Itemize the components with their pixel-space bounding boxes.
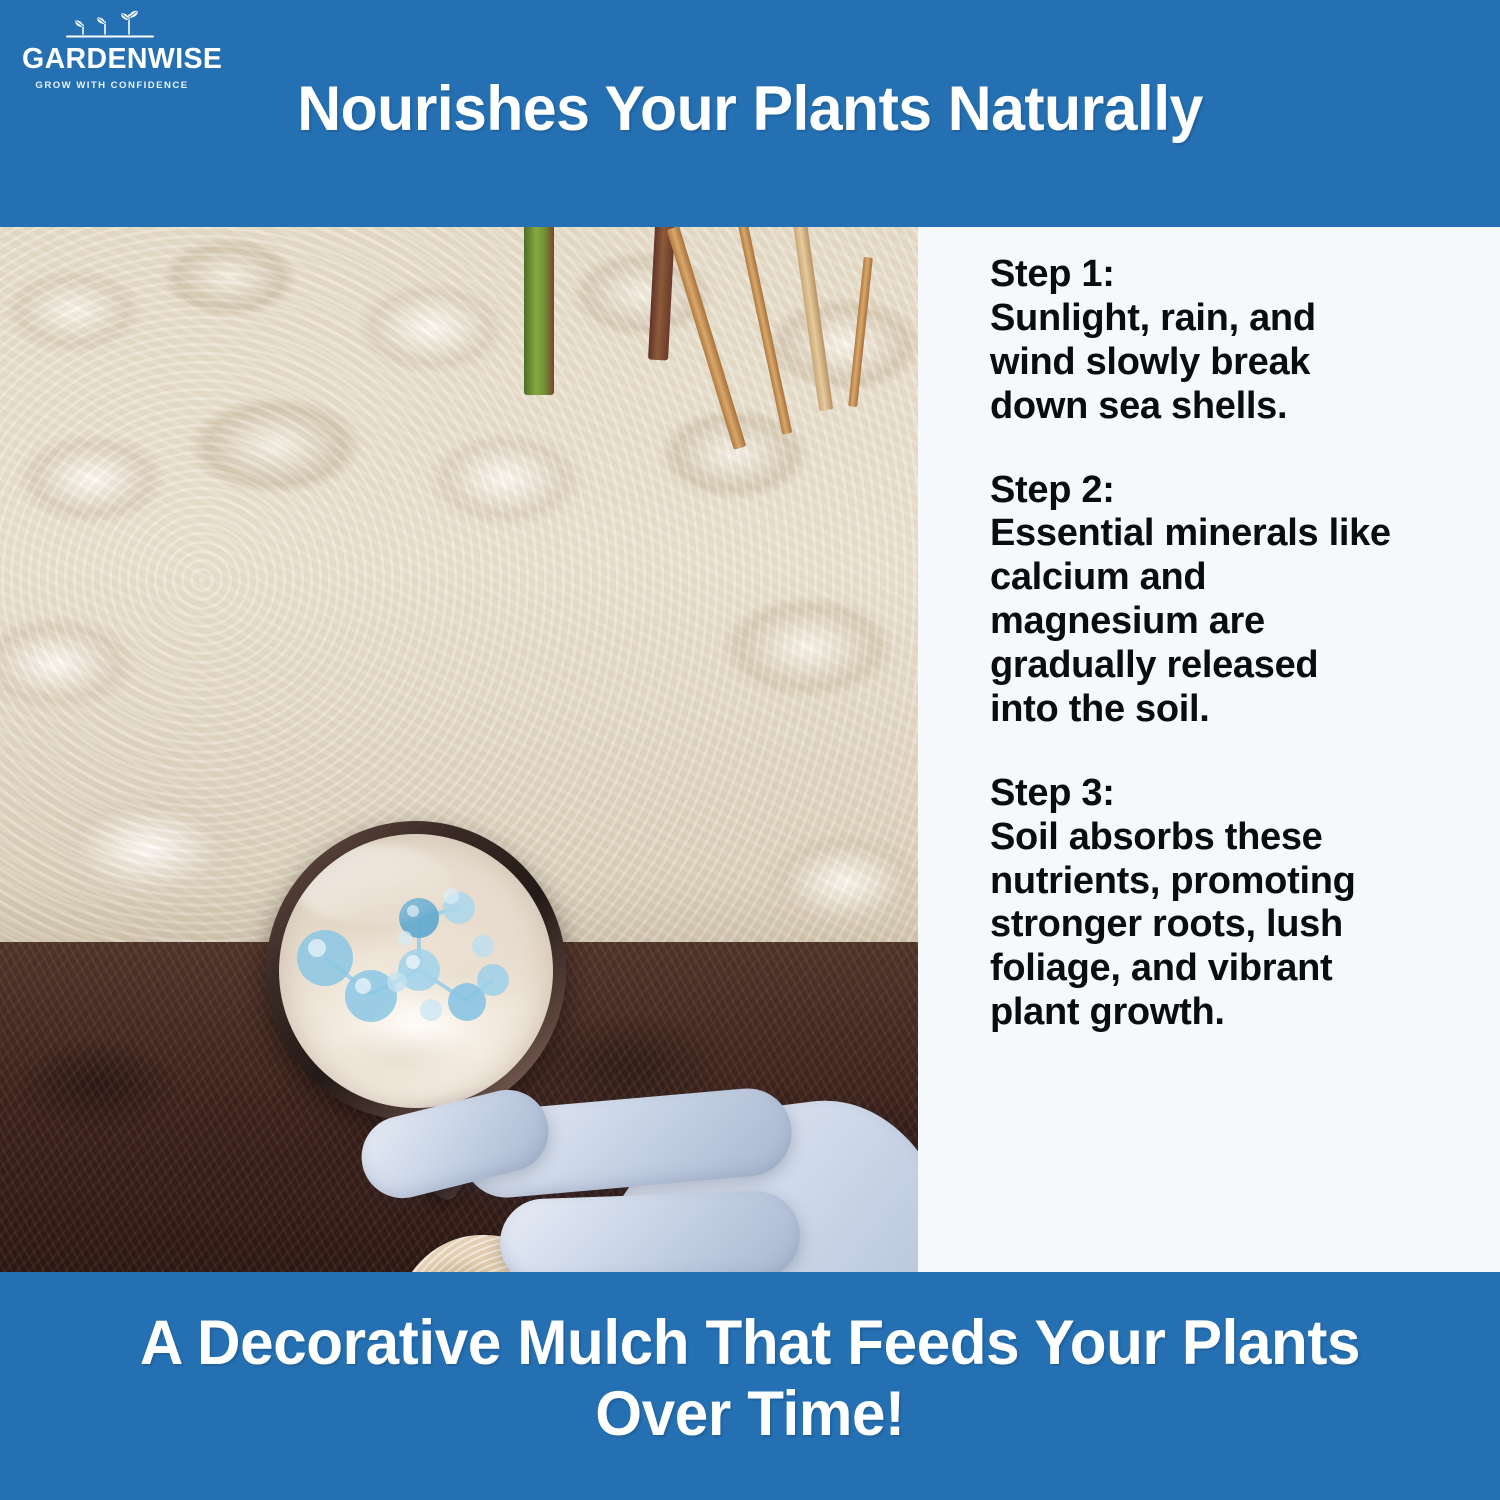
footer-tagline: A Decorative Mulch That Feeds Your Plant… (34, 1308, 1467, 1450)
product-photo (0, 227, 918, 1272)
step-item: Step 3: Soil absorbs these nutrients, pr… (990, 772, 1476, 1035)
step-2-label: Step 2: (990, 469, 1476, 513)
green-plant-stem (524, 227, 554, 395)
step-3-label: Step 3: (990, 772, 1476, 816)
glove-finger-2 (499, 1190, 802, 1272)
main-content: Step 1: Sunlight, rain, and wind slowly … (0, 227, 1500, 1272)
steps-panel: Step 1: Sunlight, rain, and wind slowly … (918, 227, 1500, 1272)
step-item: Step 1: Sunlight, rain, and wind slowly … (990, 253, 1476, 429)
step-item: Step 2: Essential minerals like calcium … (990, 469, 1476, 732)
magnifying-glass-icon (266, 821, 566, 1121)
page-title: Nourishes Your Plants Naturally (26, 78, 1474, 141)
brand-name: GARDENWISE (22, 45, 202, 74)
lens-glare (293, 844, 453, 924)
three-sprouts-icon (53, 6, 171, 44)
infographic-page: GARDENWISE GROW WITH CONFIDENCE Nourishe… (0, 0, 1500, 1500)
footer-band: A Decorative Mulch That Feeds Your Plant… (0, 1272, 1500, 1500)
header-band: GARDENWISE GROW WITH CONFIDENCE Nourishe… (0, 0, 1500, 227)
step-2-body: Essential minerals like calcium and magn… (990, 512, 1476, 731)
step-1-body: Sunlight, rain, and wind slowly break do… (990, 297, 1476, 429)
step-3-body: Soil absorbs these nutrients, promoting … (990, 816, 1476, 1035)
magnifier-lens (279, 834, 553, 1108)
step-1-label: Step 1: (990, 253, 1476, 297)
